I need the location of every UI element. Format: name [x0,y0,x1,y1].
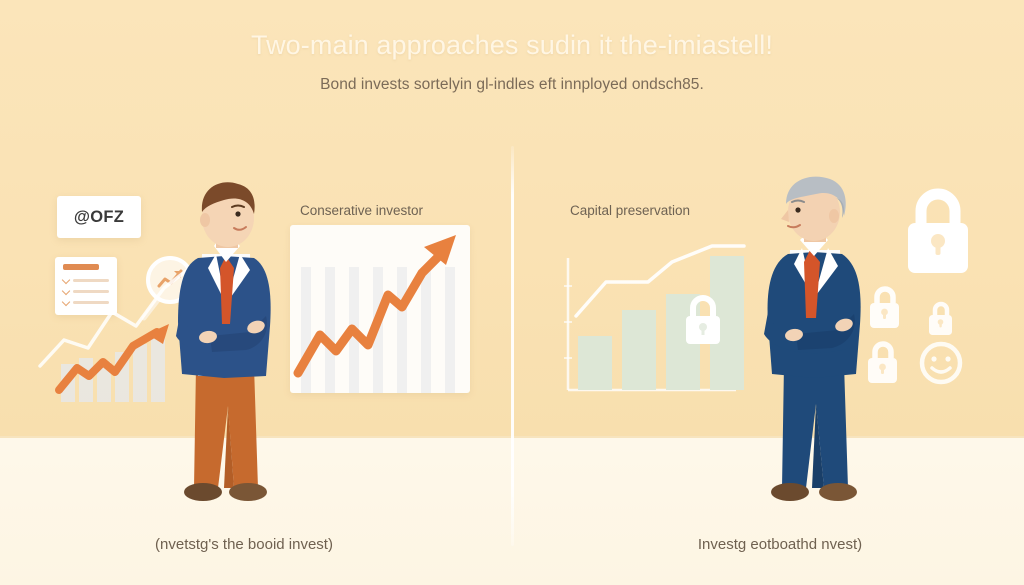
page-title: Two-main approaches sudin it the-imiaste… [0,30,1024,61]
page-subtitle: Bond invests sortelyin gl-indles eft inn… [0,76,1024,94]
checkmark-icon [62,276,70,284]
left-chart-label: Conserative investor [300,203,423,218]
growth-line-chart [290,225,470,393]
illustration-canvas: Two-main approaches sudin it the-imiaste… [0,0,1024,585]
document-line [73,279,109,282]
document-checklist-card [55,257,117,315]
document-row [63,299,109,305]
panel-divider [511,146,514,546]
document-row [63,288,109,294]
growth-line-chart-card [290,225,470,393]
document-line [73,301,109,304]
left-caption: (nvetstg's the booid invest) [64,536,424,553]
right-caption: Investg eotboathd nvest) [600,536,960,553]
ofz-badge: @OFZ [57,196,141,238]
ofz-badge-label: @OFZ [74,208,124,227]
document-line [73,290,109,293]
document-row [63,277,109,283]
right-chart-label: Capital preservation [570,203,690,218]
checkmark-icon [62,298,70,306]
checkmark-icon [62,287,70,295]
document-header-bar [63,264,99,270]
